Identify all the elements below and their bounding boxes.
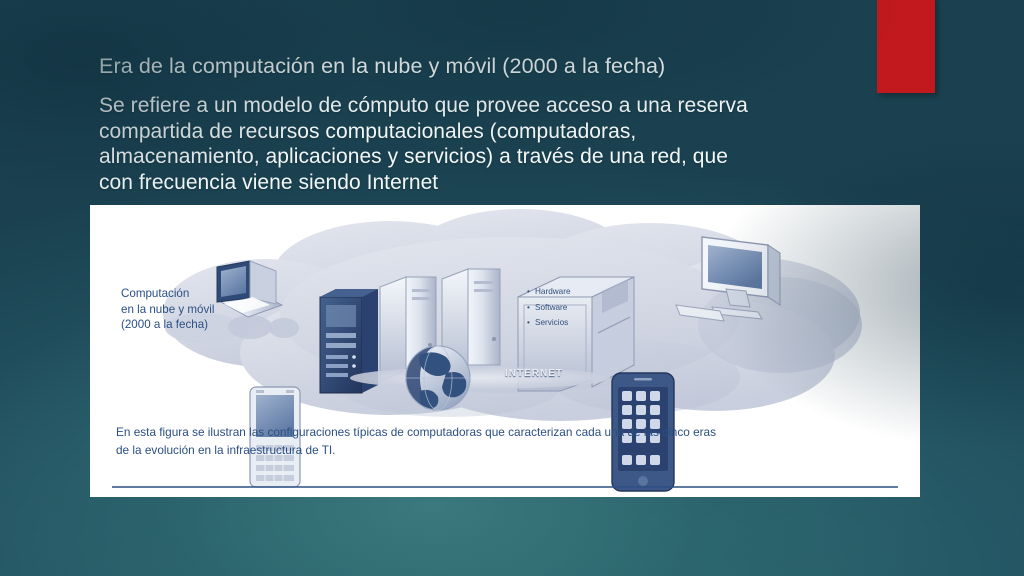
internet-band: [350, 367, 610, 389]
figure-caption: En esta figura se ilustran las configura…: [116, 423, 886, 459]
list-item-label: Software: [535, 303, 567, 312]
era-label: Computación en la nube y móvil (2000 a l…: [121, 286, 214, 333]
body-line: Se refiere a un modelo de cómputo que pr…: [99, 93, 859, 119]
body-line: compartida de recursos computacionales (…: [99, 119, 859, 145]
body-line: almacenamiento, aplicaciones y servicios…: [99, 144, 859, 170]
list-item: •Software: [527, 300, 571, 316]
figure-image: Computación en la nube y móvil (2000 a l…: [90, 205, 920, 497]
list-item-label: Servicios: [535, 318, 568, 327]
list-item-label: Hardware: [535, 287, 571, 296]
bullet-dot: •: [527, 315, 535, 331]
slide-text-area: Era de la computación en la nube y móvil…: [99, 52, 859, 195]
internet-globe-icon: [406, 346, 470, 410]
cloud-items-list: •Hardware •Software •Servicios: [527, 284, 571, 331]
body-line: con frecuencia viene siendo Internet: [99, 170, 859, 196]
bullet-dot: •: [527, 284, 535, 300]
caption-line: de la evolución en la infraestructura de…: [116, 441, 886, 459]
list-item: •Servicios: [527, 315, 571, 331]
page-title: Era de la computación en la nube y móvil…: [99, 52, 859, 80]
bullet-dot: •: [527, 300, 535, 316]
caption-line: En esta figura se ilustran las configura…: [116, 423, 886, 441]
presentation-slide: Era de la computación en la nube y móvil…: [0, 0, 1024, 576]
list-item: •Hardware: [527, 284, 571, 300]
slide-body-text: Se refiere a un modelo de cómputo que pr…: [99, 93, 859, 195]
red-accent-block: [877, 0, 935, 93]
